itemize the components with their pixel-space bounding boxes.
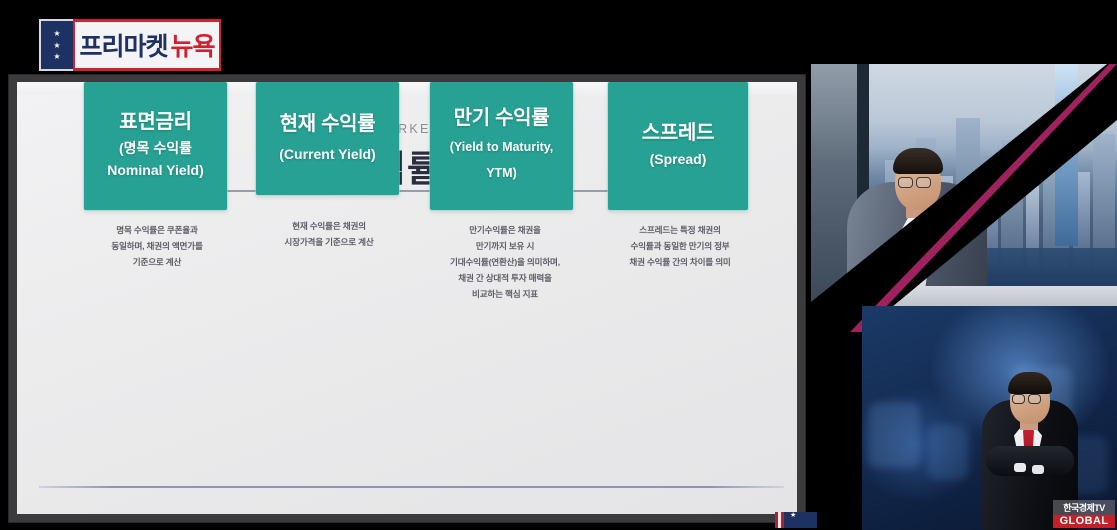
card-subtitle-line: YTM) [450, 160, 553, 186]
caption-line: 현재 수익률은 채권의 [249, 219, 409, 235]
broadcast-stage: PREMARKET_NY 채권 수익률의 개념 표면금리 (명목 수익률 Nom… [0, 0, 1117, 530]
card-subtitle-line: (명목 수익률 [107, 138, 203, 160]
caption-line: 수익률과 동일한 만기의 정부 [600, 239, 760, 255]
caption-line: 명목 수익률은 쿠폰율과 [77, 223, 237, 239]
caption-line: 만기까지 보유 시 [425, 239, 585, 255]
caption-line: 동일하며, 채권의 액면가를 [77, 239, 237, 255]
watermark-brand: GLOBAL [1053, 515, 1115, 528]
card-subtitle-en: (명목 수익률 Nominal Yield) [107, 138, 203, 181]
logo-wordmark: 프리마켓 뉴욕 [73, 19, 221, 71]
card-title-kr: 현재 수익률 [280, 112, 376, 137]
logo-text-primary: 프리마켓 [79, 27, 167, 63]
concept-card-spread: 스프레드 (Spread) [608, 82, 748, 210]
logo-star-panel: ★ ★ ★ [39, 19, 73, 71]
star-icon: ★ [53, 42, 60, 49]
video-panel-newyork-studio [811, 64, 1117, 310]
concept-card-current-yield: 현재 수익률 (Current Yield) [256, 82, 399, 195]
slide-frame: PREMARKET_NY 채권 수익률의 개념 표면금리 (명목 수익률 Nom… [8, 74, 806, 523]
card-subtitle-line: (Yield to Maturity, [450, 134, 553, 160]
backdrop-light-blur [868, 402, 920, 468]
caption-line: 기준으로 계산 [77, 255, 237, 271]
lapel-microphone-icon [928, 243, 933, 248]
card-subtitle-line: (Spread) [650, 149, 707, 171]
card-title-kr: 스프레드 [642, 121, 714, 146]
star-icon: ★ [53, 53, 60, 60]
one-world-trade-center [1055, 64, 1078, 246]
caption-line: 스프레드는 특정 채권의 [600, 223, 760, 239]
caption-line: 채권 수익률 간의 차이를 의미 [600, 255, 760, 271]
card-subtitle-en: (Spread) [650, 149, 707, 171]
watermark-channel-name: 한국경제TV [1053, 500, 1115, 515]
card-caption: 만기수익률은 채권을 만기까지 보유 시 기대수익률(연환산)을 의미하며, 채… [425, 223, 585, 302]
channel-logo-bug: ★ ★ ★ 프리마켓 뉴욕 [39, 19, 221, 71]
concept-column: 표면금리 (명목 수익률 Nominal Yield) 명목 수익률은 쿠폰율과… [77, 82, 237, 271]
video-panel-studio-host [862, 306, 1117, 530]
card-subtitle-en: (Current Yield) [279, 144, 375, 166]
card-caption: 스프레드는 특정 채권의 수익률과 동일한 만기의 정부 채권 수익률 간의 차… [600, 223, 760, 271]
card-subtitle-en: (Yield to Maturity, YTM) [450, 134, 553, 187]
host-shirt-cuff [1014, 463, 1026, 472]
card-subtitle-line: Nominal Yield) [107, 160, 203, 182]
host-crossed-arms [986, 446, 1074, 476]
host-hair [1008, 372, 1052, 394]
video-column [806, 0, 1117, 530]
eyeglasses-icon [1012, 394, 1025, 404]
caption-line: 비교하는 핵심 지표 [425, 287, 585, 303]
caption-line: 만기수익률은 채권을 [425, 223, 585, 239]
concept-column: 현재 수익률 (Current Yield) 현재 수익률은 채권의 시장가격을… [249, 82, 409, 251]
caption-line: 채권 간 상대적 투자 매력을 [425, 271, 585, 287]
concept-card-nominal-yield: 표면금리 (명목 수익률 Nominal Yield) [84, 82, 227, 210]
flag-graphic [775, 512, 817, 528]
card-caption: 명목 수익률은 쿠폰율과 동일하며, 채권의 액면가를 기준으로 계산 [77, 223, 237, 271]
star-icon: ★ [53, 30, 60, 37]
channel-watermark: 한국경제TV GLOBAL [1053, 500, 1115, 528]
concept-column: 만기 수익률 (Yield to Maturity, YTM) 만기수익률은 채… [425, 82, 585, 302]
card-subtitle-line: (Current Yield) [279, 144, 375, 166]
card-caption: 현재 수익률은 채권의 시장가격을 기준으로 계산 [249, 219, 409, 251]
concept-cards: 표면금리 (명목 수익률 Nominal Yield) 명목 수익률은 쿠폰율과… [17, 82, 797, 514]
caption-line: 기대수익률(연환산)을 의미하며, [425, 255, 585, 271]
eyeglasses-icon [898, 177, 913, 188]
card-title-kr: 만기 수익률 [454, 106, 550, 131]
logo-text-accent: 뉴욕 [171, 27, 215, 63]
slide-bottom-divider [39, 486, 784, 488]
correspondent-hair [893, 148, 943, 174]
presentation-slide: PREMARKET_NY 채권 수익률의 개념 표면금리 (명목 수익률 Nom… [17, 82, 797, 514]
caption-line: 시장가격을 기준으로 계산 [249, 235, 409, 251]
eyeglasses-icon [916, 177, 931, 188]
flag-canton [784, 512, 817, 528]
card-title-kr: 표면금리 [119, 110, 191, 135]
host-shirt-cuff [1032, 465, 1044, 474]
concept-card-yield-to-maturity: 만기 수익률 (Yield to Maturity, YTM) [430, 82, 573, 210]
concept-column: 스프레드 (Spread) 스프레드는 특정 채권의 수익률과 동일한 만기의 … [600, 82, 760, 271]
eyeglasses-icon [1028, 394, 1041, 404]
backdrop-light-blur [928, 424, 968, 480]
